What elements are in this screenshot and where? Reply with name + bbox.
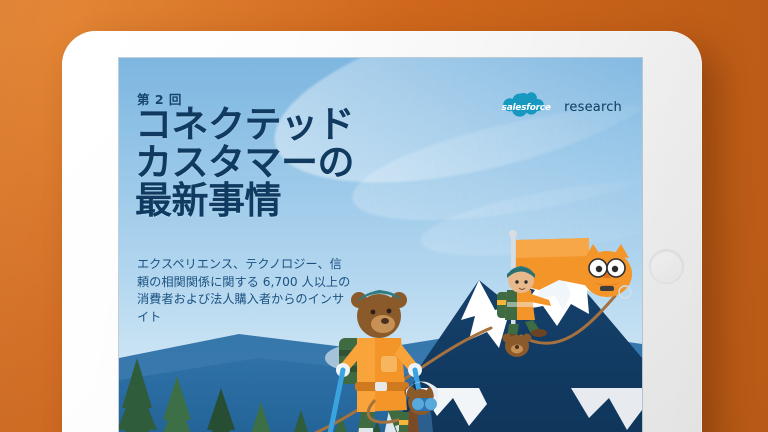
research-wordmark: research (564, 100, 622, 115)
home-button[interactable] (650, 250, 683, 283)
tablet-screen[interactable]: 第 2 回 コネクテッド カスタマーの 最新事情 エクスペリエンス、テクノロジー… (119, 58, 642, 432)
salesforce-research-logo: salesforce research (494, 92, 622, 123)
tablet-device: 第 2 回 コネクテッド カスタマーの 最新事情 エクスペリエンス、テクノロジー… (62, 31, 702, 432)
cover-subtitle: エクスペリエンス、テクノロジー、信頼の相関関係に関する 6,700 人以上の消費… (137, 256, 352, 326)
title-line-3: 最新事情 (135, 182, 465, 220)
salesforce-cloud-icon: salesforce (494, 92, 558, 123)
screenshot-root: 第 2 回 コネクテッド カスタマーの 最新事情 エクスペリエンス、テクノロジー… (0, 0, 768, 432)
salesforce-wordmark: salesforce (494, 92, 558, 123)
page-title: コネクテッド カスタマーの 最新事情 (135, 106, 465, 220)
title-line-2: カスタマーの (135, 144, 465, 182)
title-line-1: コネクテッド (135, 106, 465, 144)
